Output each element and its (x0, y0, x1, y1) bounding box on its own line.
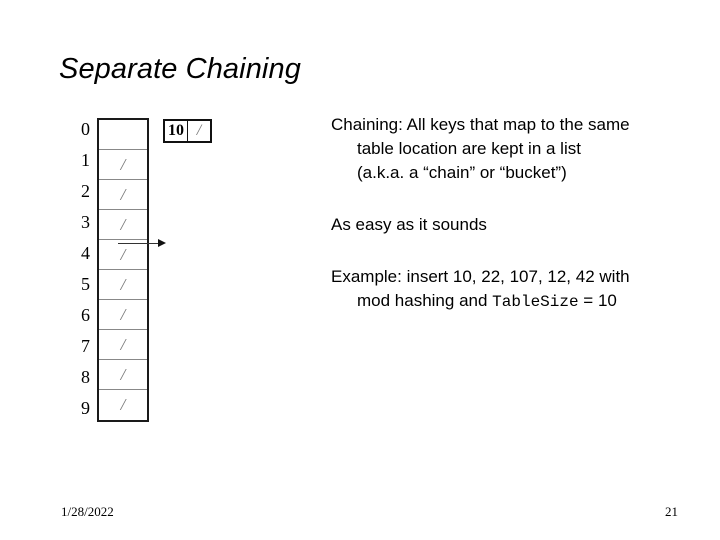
bucket-index-label: 2 (52, 176, 90, 207)
bucket-index-label: 0 (52, 114, 90, 145)
bucket-index-label: 9 (52, 393, 90, 424)
bucket-cell: / (99, 270, 147, 300)
hash-table-diagram: 0 1 2 3 4 5 6 7 8 9 / / / / / / / / / 10… (52, 114, 302, 430)
paragraph-chaining-definition: Chaining: All keys that map to the same … (331, 113, 701, 185)
body-text-block: Chaining: All keys that map to the same … (331, 113, 701, 324)
bucket-cell: / (99, 210, 147, 240)
bucket-cell: / (99, 300, 147, 330)
footer-date: 1/28/2022 (61, 504, 114, 520)
bucket-index-label: 3 (52, 207, 90, 238)
bucket-index-label: 6 (52, 300, 90, 331)
text-line: Chaining: All keys that map to the same (331, 113, 701, 137)
text-line: Example: insert 10, 22, 107, 12, 42 with (331, 265, 701, 289)
page-title: Separate Chaining (59, 52, 301, 86)
text-segment: = 10 (579, 291, 617, 310)
paragraph-as-easy-as-it-sounds: As easy as it sounds (331, 213, 701, 237)
text-line: As easy as it sounds (331, 213, 701, 237)
bucket-index-label: 7 (52, 331, 90, 362)
bucket-cell: / (99, 330, 147, 360)
bucket-index-label: 5 (52, 269, 90, 300)
bucket-cell (99, 120, 147, 150)
node-key-value: 10 (165, 121, 188, 141)
linked-list-node: 10 / (163, 119, 212, 143)
bucket-cell: / (99, 180, 147, 210)
bucket-cell: / (99, 150, 147, 180)
arrow-shaft (118, 243, 160, 244)
bucket-index-label: 8 (52, 362, 90, 393)
bucket-index-column: 0 1 2 3 4 5 6 7 8 9 (52, 114, 90, 424)
text-segment: mod hashing and (357, 291, 492, 310)
bucket-array: / / / / / / / / / (97, 118, 149, 422)
text-line: (a.k.a. a “chain” or “bucket”) (331, 161, 701, 185)
chain-pointer-arrow-icon (118, 239, 166, 248)
arrow-head (158, 239, 166, 247)
text-line: table location are kept in a list (331, 137, 701, 161)
paragraph-example: Example: insert 10, 22, 107, 12, 42 with… (331, 265, 701, 314)
text-line-with-code: mod hashing and TableSize = 10 (331, 289, 701, 314)
bucket-cell: / (99, 390, 147, 420)
code-tablesize: TableSize (492, 293, 578, 311)
footer-page-number: 21 (665, 504, 678, 520)
bucket-index-label: 4 (52, 238, 90, 269)
bucket-cell: / (99, 360, 147, 390)
bucket-index-label: 1 (52, 145, 90, 176)
node-next-null-marker: / (188, 121, 210, 141)
